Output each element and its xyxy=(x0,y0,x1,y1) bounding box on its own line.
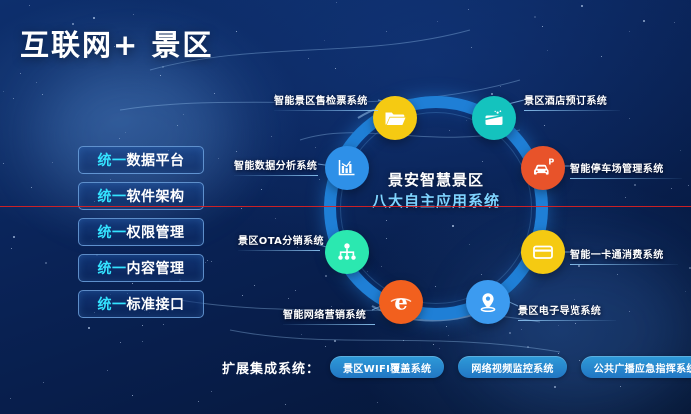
extension-pill-wifi[interactable]: 景区WIFI覆盖系统 xyxy=(330,356,444,378)
infographic-canvas: 互联网+ 景区 统一数据平台 统一软件架构 统一权限管理 统一内容管理 统一标准… xyxy=(0,0,691,414)
label-network-marketing-text: 智能网络营销系统 xyxy=(283,306,375,321)
svg-text:e: e xyxy=(394,290,407,315)
folder-icon xyxy=(383,106,407,130)
hotel-bed-icon xyxy=(482,106,506,130)
left-item-prefix: 统一 xyxy=(98,189,127,205)
center-ring-inner xyxy=(340,112,532,304)
parking-car-icon: P xyxy=(530,155,556,181)
left-list-item-2[interactable]: 统一权限管理 xyxy=(78,218,204,246)
label-ota-distribution-text: 景区OTA分销系统 xyxy=(238,232,320,247)
extension-systems-bar: 扩展集成系统： 景区WIFI覆盖系统 网络视频监控系统 公共广播应急指挥系统 xyxy=(222,356,691,378)
node-ota-distribution[interactable] xyxy=(325,230,369,274)
extension-pill-public-broadcast[interactable]: 公共广播应急指挥系统 xyxy=(581,356,691,378)
page-title: 互联网+ 景区 xyxy=(20,22,213,64)
left-item-prefix: 统一 xyxy=(98,297,127,313)
left-item-rest: 软件架构 xyxy=(127,189,185,205)
extension-systems-label: 扩展集成系统： xyxy=(222,358,320,377)
extension-pill-public-broadcast-text: 公共广播应急指挥系统 xyxy=(594,360,691,375)
node-ticketing[interactable] xyxy=(373,96,417,140)
label-one-card: 智能一卡通消费系统 xyxy=(570,246,678,265)
left-item-prefix: 统一 xyxy=(98,225,127,241)
left-feature-list: 统一数据平台 统一软件架构 统一权限管理 统一内容管理 统一标准接口 xyxy=(78,146,204,326)
node-hotel-booking[interactable] xyxy=(472,96,516,140)
left-list-item-4[interactable]: 统一标准接口 xyxy=(78,290,204,318)
label-parking: 智能停车场管理系统 xyxy=(570,160,682,179)
map-pin-icon xyxy=(475,289,501,315)
label-one-card-text: 智能一卡通消费系统 xyxy=(570,246,678,261)
extension-pill-video-surveillance[interactable]: 网络视频监控系统 xyxy=(458,356,566,378)
left-item-rest: 数据平台 xyxy=(127,153,185,169)
label-e-guide-text: 景区电子导览系统 xyxy=(518,302,616,317)
node-e-guide[interactable] xyxy=(466,280,510,324)
credit-card-icon xyxy=(530,239,556,265)
left-item-rest: 权限管理 xyxy=(127,225,185,241)
left-list-item-3[interactable]: 统一内容管理 xyxy=(78,254,204,282)
distribution-network-icon xyxy=(334,239,360,265)
node-data-analysis[interactable] xyxy=(325,146,369,190)
internet-e-icon: e xyxy=(387,288,415,316)
scan-line xyxy=(0,206,691,207)
left-item-prefix: 统一 xyxy=(98,153,127,169)
label-hotel-booking: 景区酒店预订系统 xyxy=(524,92,620,111)
label-network-marketing: 智能网络营销系统 xyxy=(283,306,375,325)
label-data-analysis: 智能数据分析系统 xyxy=(234,157,318,176)
label-parking-text: 智能停车场管理系统 xyxy=(570,160,682,175)
extension-pill-wifi-text: 景区WIFI覆盖系统 xyxy=(343,360,431,375)
node-network-marketing[interactable]: e xyxy=(379,280,423,324)
left-item-rest: 标准接口 xyxy=(127,297,185,313)
label-ota-distribution: 景区OTA分销系统 xyxy=(238,232,320,251)
label-ticketing-text: 智能景区售检票系统 xyxy=(274,92,378,107)
left-item-rest: 内容管理 xyxy=(127,261,185,277)
label-data-analysis-text: 智能数据分析系统 xyxy=(234,157,318,172)
label-e-guide: 景区电子导览系统 xyxy=(518,302,616,321)
svg-text:P: P xyxy=(548,157,554,166)
label-hotel-booking-text: 景区酒店预订系统 xyxy=(524,92,620,107)
label-ticketing: 智能景区售检票系统 xyxy=(274,92,378,111)
node-parking[interactable]: P xyxy=(521,146,565,190)
node-one-card[interactable] xyxy=(521,230,565,274)
left-list-item-0[interactable]: 统一数据平台 xyxy=(78,146,204,174)
left-item-prefix: 统一 xyxy=(98,261,127,277)
extension-pill-video-surveillance-text: 网络视频监控系统 xyxy=(471,360,553,375)
bar-chart-icon xyxy=(334,155,360,181)
